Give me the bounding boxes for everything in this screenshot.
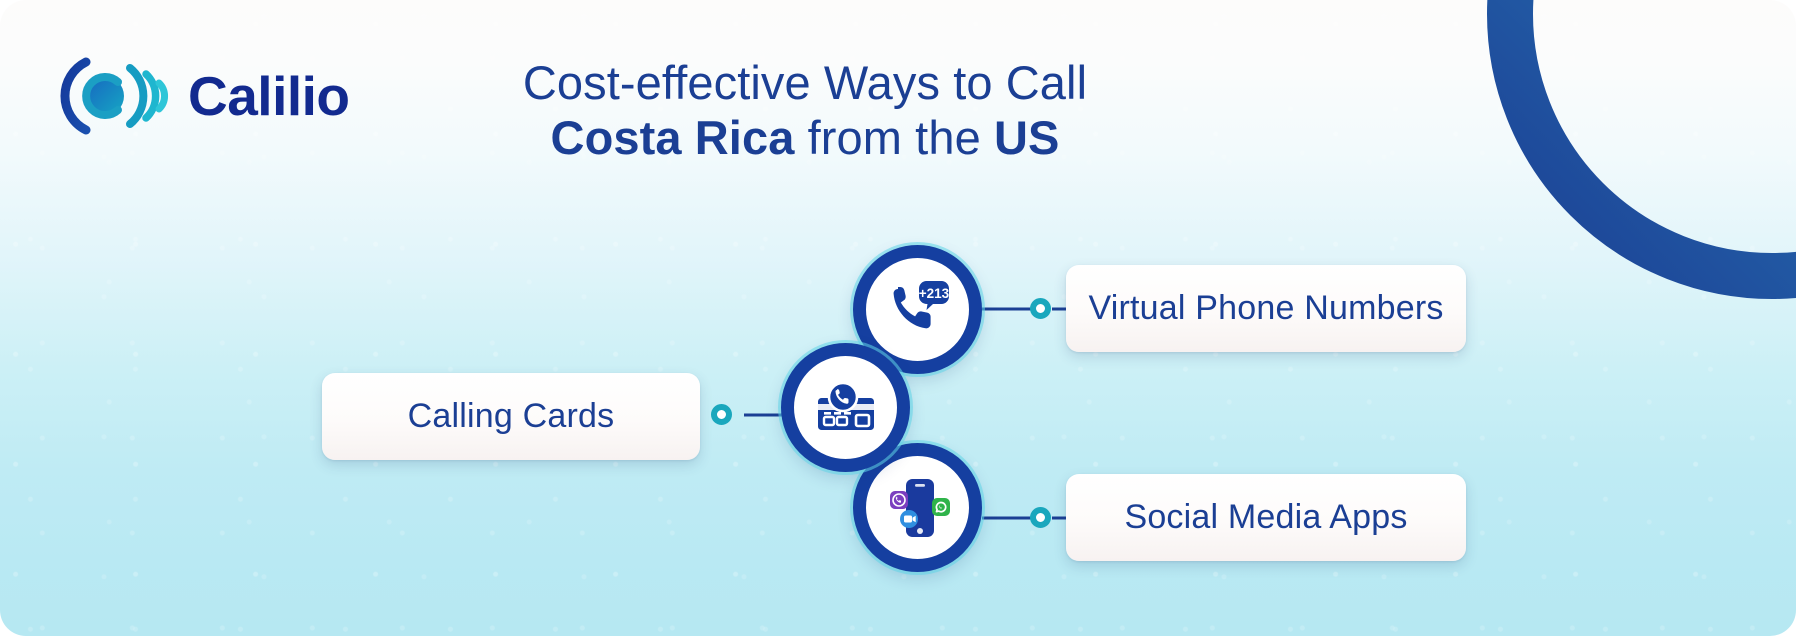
node-calling-cards[interactable]: [781, 343, 910, 472]
smartphone-social-apps-icon: [881, 471, 955, 545]
infographic-canvas: Calilio Cost-effective Ways to Call Cost…: [0, 0, 1796, 636]
phone-with-country-code-icon: +213: [881, 273, 955, 347]
connector-dot-virtual-phone-numbers: [1030, 298, 1051, 319]
connector-dot-social-media-apps: [1030, 507, 1051, 528]
country-code-badge-text: +213: [918, 286, 949, 301]
calling-card-icon: [809, 371, 883, 445]
connector-dot-calling-cards: [711, 404, 732, 425]
whatsapp-icon: [932, 498, 950, 516]
diagram-area: +213: [0, 0, 1796, 636]
label-card-calling-cards[interactable]: Calling Cards: [322, 373, 700, 460]
label-card-virtual-phone-numbers[interactable]: Virtual Phone Numbers: [1066, 265, 1466, 352]
label-card-social-media-apps[interactable]: Social Media Apps: [1066, 474, 1466, 561]
viber-icon: [890, 491, 908, 509]
video-call-icon: [900, 510, 918, 528]
